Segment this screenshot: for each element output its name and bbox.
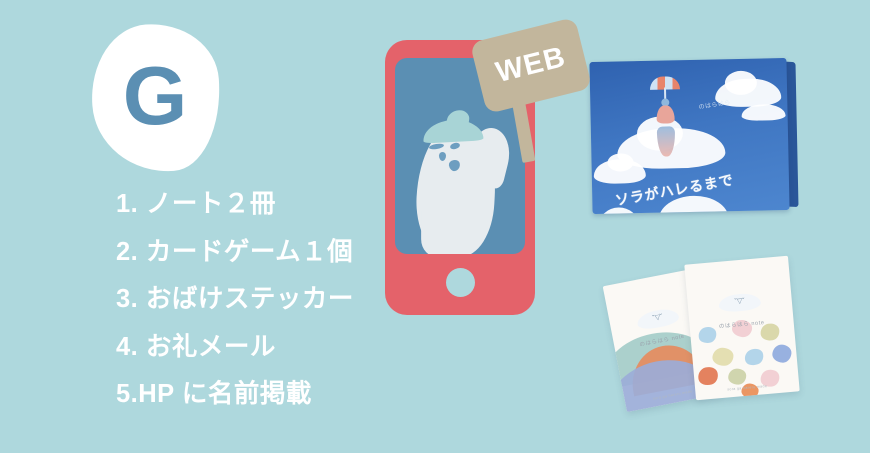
card-game-box: のはらはら ソラがハレるまで (589, 58, 789, 214)
ghost-cap (422, 118, 483, 143)
web-sign: WEB (470, 17, 592, 114)
figure-reflection (657, 126, 676, 156)
reward-item-2: 2. カードゲーム１個 (116, 240, 416, 266)
notebook-blob (742, 346, 765, 367)
notebook-blob (728, 368, 746, 384)
reward-list: 1. ノート２冊 2. カードゲーム１個 3. おばけステッカー 4. お礼メー… (116, 192, 416, 430)
notebook-blob (772, 344, 792, 363)
reward-tier-graphic: G 1. ノート２冊 2. カードゲーム１個 3. おばけステッカー 4. お礼… (0, 0, 870, 453)
notebook-blob (696, 365, 720, 388)
tier-badge: G (92, 24, 220, 172)
reward-item-4: 4. お礼メール (116, 335, 416, 361)
badge-letter: G (92, 24, 220, 172)
box-subtitle: のはらはら (698, 97, 732, 111)
reward-item-1: 1. ノート２冊 (116, 192, 416, 218)
ghost-character (417, 110, 509, 254)
box-front-cover: のはらはら ソラがハレるまで (589, 58, 789, 214)
reward-item-3: 3. おばけステッカー (116, 287, 416, 313)
cloud-shape (741, 104, 785, 121)
notebook-blob (712, 348, 733, 366)
reward-item-5: 5.HP に名前掲載 (116, 382, 416, 408)
notebooks-group: ˘▽˘ のはらはら note sora ga hareru made ˘▽˘ の… (612, 250, 817, 410)
figure-dress (656, 105, 674, 123)
notebook-right: ˘▽˘ のはらはら note sora ga hareru made (684, 256, 799, 401)
phone-home-button (446, 268, 475, 297)
web-sign-label: WEB (493, 43, 569, 88)
notebook-logo-face: ˘▽˘ (734, 299, 744, 306)
box-character-with-umbrella (648, 76, 684, 165)
notebook-right-blobs (684, 256, 788, 265)
